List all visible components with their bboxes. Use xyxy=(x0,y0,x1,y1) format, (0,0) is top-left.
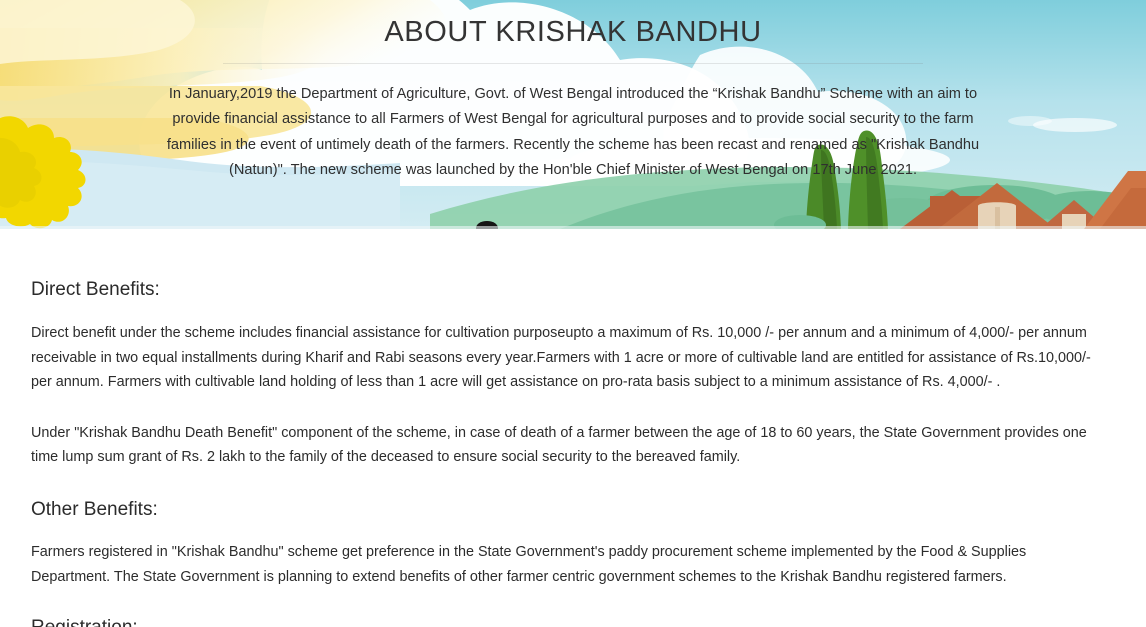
paragraph-direct-benefits: Direct benefit under the scheme includes… xyxy=(31,321,1106,395)
farm-landscape-illustration xyxy=(0,0,1146,229)
paragraph-other-benefits: Farmers registered in "Krishak Bandhu" s… xyxy=(31,540,1106,589)
main-content: Direct Benefits: Direct benefit under th… xyxy=(0,278,1146,627)
section-heading-direct-benefits: Direct Benefits: xyxy=(31,278,1106,301)
section-heading-other-benefits: Other Benefits: xyxy=(31,498,1106,521)
hero-banner: ABOUT KRISHAK BANDHU In January,2019 the… xyxy=(0,0,1146,229)
banner-bottom-edge xyxy=(0,226,1146,229)
paragraph-death-benefit: Under "Krishak Bandhu Death Benefit" com… xyxy=(31,421,1106,470)
section-heading-registration: Registration: xyxy=(31,616,1106,627)
